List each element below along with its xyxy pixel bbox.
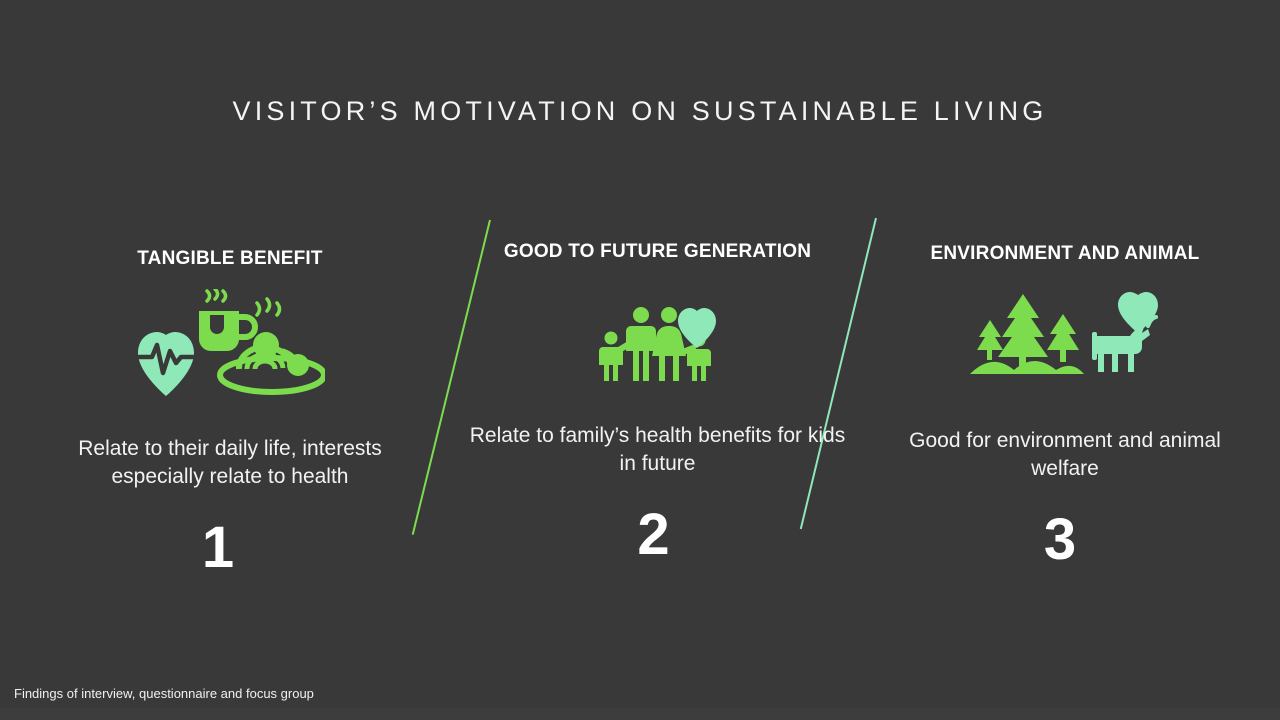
column-icon-group (890, 282, 1240, 387)
column-body-text: Good for environment and animal welfare (890, 427, 1240, 483)
future-generation-icons (593, 304, 723, 384)
column-heading: TANGIBLE BENEFIT (45, 244, 415, 273)
tea-mug-icon (199, 289, 255, 351)
heart-pulse-icon (138, 332, 194, 396)
heart-icon (678, 308, 716, 348)
column-number: 2 (452, 506, 855, 564)
column-tangible-benefit: TANGIBLE BENEFIT (45, 222, 415, 577)
environment-animal-icons (968, 292, 1163, 387)
column-icon-group (460, 284, 855, 384)
column-environment-and-animal: ENVIRONMENT AND ANIMAL (890, 222, 1240, 569)
tangible-benefit-icons (135, 289, 325, 397)
column-body-text: Relate to family’s health benefits for k… (460, 422, 855, 478)
column-number: 1 (21, 519, 415, 577)
column-icon-group (45, 287, 415, 397)
heart-icon (1118, 292, 1158, 333)
column-number: 3 (880, 511, 1240, 569)
columns-container: TANGIBLE BENEFIT (0, 222, 1280, 602)
column-heading: ENVIRONMENT AND ANIMAL (890, 239, 1240, 268)
column-heading: GOOD TO FUTURE GENERATION (460, 237, 855, 266)
column-body-text: Relate to their daily life, interests es… (45, 435, 415, 491)
forest-trees-icon (970, 294, 1084, 374)
page-title: VISITOR’S MOTIVATION ON SUSTAINABLE LIVI… (0, 96, 1280, 127)
column-good-to-future-generation: GOOD TO FUTURE GENERATION (460, 222, 855, 564)
bottom-band (0, 708, 1280, 720)
slide-canvas: VISITOR’S MOTIVATION ON SUSTAINABLE LIVI… (0, 0, 1280, 720)
footer-note: Findings of interview, questionnaire and… (14, 686, 314, 701)
